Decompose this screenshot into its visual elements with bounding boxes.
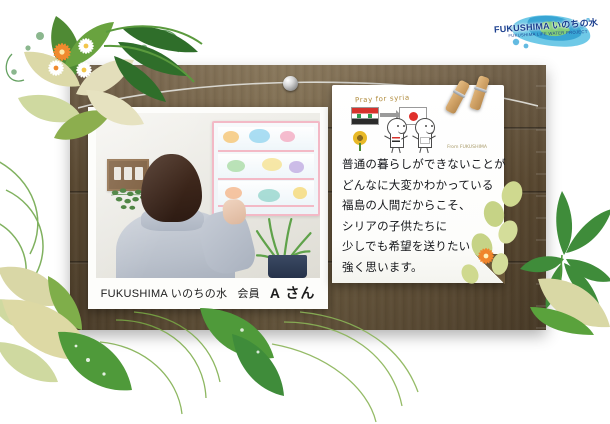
message-line-3: 福島の人間だからこそ、 (342, 196, 498, 217)
card-drawing: Pray for syria (341, 91, 491, 153)
arrow-icon (380, 113, 397, 117)
nail-icon (283, 76, 298, 91)
caption-member-name: A さん (270, 283, 315, 303)
fukushima-inochinomizu-logo: FUKUSHIMA いのちの水 FUKUSHIMA LIFE WATER PRO… (486, 8, 604, 52)
message-line-5: 少しでも希望を送りたいと (342, 237, 498, 258)
caption-role: 会員 (237, 285, 260, 301)
message-line-1: 普通の暮らしができないことが (342, 155, 498, 176)
member-photo-panel: FUKUSHIMA いのちの水 会員 A さん (88, 107, 328, 309)
message-card: Pray for syria (332, 85, 504, 283)
member-photo (96, 113, 320, 278)
photo-caption: FUKUSHIMA いのちの水 会員 A さん (88, 277, 328, 309)
pray-for-syria-title: Pray for syria (355, 94, 410, 105)
child-figure-syria (383, 118, 409, 152)
sunflower-icon (353, 131, 369, 151)
screenshot-canvas: FUKUSHIMA いのちの水 会員 A さん Pray for syria (0, 0, 610, 424)
message-line-4: シリアの子供たちに (342, 217, 498, 238)
board-edge-notches (536, 65, 546, 330)
message-line-2: どんなに大変かわかっている (342, 176, 498, 197)
message-text: 普通の暮らしができないことが どんなに大変かわかっている 福島の人間だからこそ、… (342, 155, 498, 278)
photo-gloss (96, 113, 320, 278)
caption-org: FUKUSHIMA いのちの水 (101, 285, 228, 301)
syria-flag-icon (351, 107, 379, 125)
card-drawing-signature: From FUKUSHIMA (447, 145, 487, 151)
message-line-6: 強く思います。 (342, 258, 498, 279)
child-figure-japan (411, 118, 437, 152)
